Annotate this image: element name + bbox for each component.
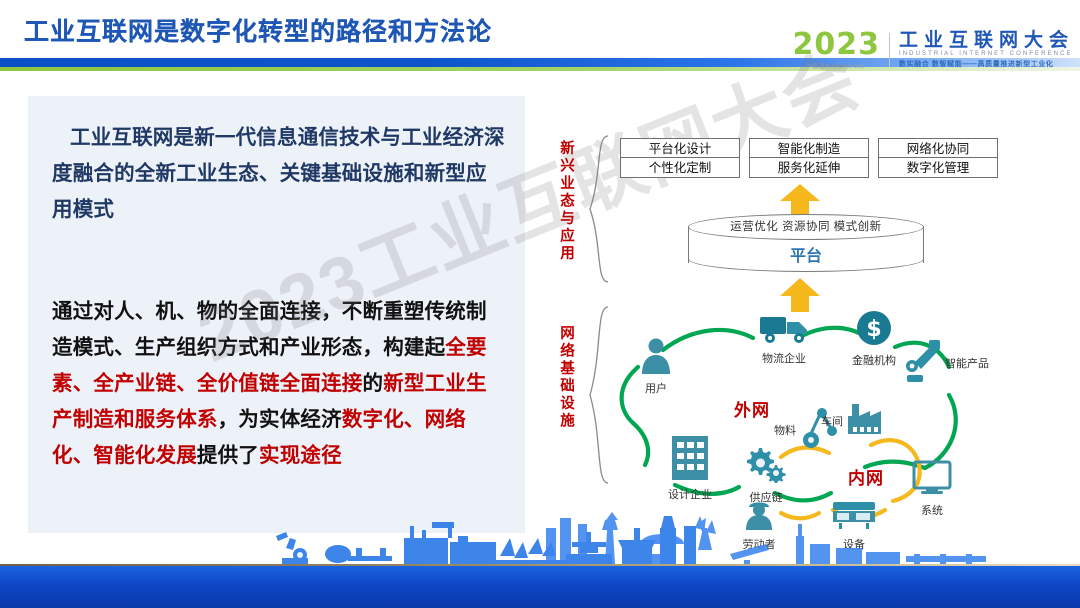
app-box-digital-mgmt[interactable]: 数字化管理 — [878, 158, 998, 178]
logo-date-location: 中国·贵州 6月14日-16日 — [807, 63, 865, 70]
node-smart-product[interactable]: 智能产品 — [903, 340, 1013, 384]
monitor-icon — [912, 460, 952, 496]
truck-icon — [758, 312, 810, 344]
node-user-label: 用户 — [626, 380, 686, 396]
app-box-service-extension[interactable]: 服务化延伸 — [749, 158, 869, 178]
logo-year: 2023 — [792, 30, 880, 60]
paragraph-definition: 工业互联网是新一代信息通信技术与工业经济深度融合的全新工业生态、关键基础设施和新… — [52, 120, 507, 228]
node-workshop-label: 车间 — [821, 413, 843, 429]
gears-icon — [744, 445, 788, 483]
svg-text:$: $ — [866, 317, 881, 342]
architecture-diagram: 新兴业态与应用 网络基础设施 平台化设计 个性化定制 智能化制造 服务化延伸 网… — [548, 120, 1072, 530]
platform-cylinder: 运营优化 资源协同 模式创新 平台 — [688, 214, 924, 272]
arrow-up-to-applications — [780, 184, 820, 216]
node-design[interactable]: 设计企业 — [650, 432, 730, 502]
logo-name-en: INDUSTRIAL INTERNET CONFERENCE — [899, 51, 1074, 57]
node-logistics[interactable]: 物流企业 — [744, 312, 824, 366]
node-logistics-label: 物流企业 — [744, 350, 824, 366]
app-box-smart-manufacturing[interactable]: 智能化制造 — [749, 138, 869, 158]
platform-capabilities: 运营优化 资源协同 模式创新 — [688, 218, 924, 234]
node-smart-product-label: 智能产品 — [945, 355, 989, 371]
app-box-group-1: 平台化设计 个性化定制 — [620, 138, 740, 178]
building-icon — [668, 432, 712, 480]
network-label-outer: 外网 — [734, 396, 770, 421]
page-title: 工业互联网是数字化转型的路径和方法论 — [24, 12, 492, 48]
seg-2: 的 — [363, 372, 384, 395]
robot-arm-icon — [903, 340, 943, 384]
app-box-group-2: 智能化制造 服务化延伸 — [749, 138, 869, 178]
paragraph-impact: 通过对人、机、物的全面连接，不断重塑传统制造模式、生产组织方式和产业形态，构建起… — [52, 294, 507, 474]
seg-4: ，为实体经济 — [218, 408, 342, 431]
node-user[interactable]: 用户 — [626, 338, 686, 396]
node-workshop[interactable]: 车间 — [776, 402, 888, 438]
seg-7: 实现途径 — [259, 444, 342, 467]
node-finance[interactable]: $ 金融机构 — [834, 310, 914, 368]
brace-applications — [588, 134, 610, 284]
layer-label-applications: 新兴业态与应用 — [556, 140, 577, 263]
app-box-group-3: 网络化协同 数字化管理 — [878, 138, 998, 178]
logo-tagline: 数实融合 数智赋能——高质量推进新型工业化 — [899, 59, 1074, 69]
factory-icon — [846, 402, 888, 438]
node-supply-chain[interactable]: 供应链 — [730, 445, 802, 505]
conference-logo: 2023 中国·贵州 6月14日-16日 工业互联网大会 INDUSTRIAL … — [792, 26, 1074, 74]
logo-divider — [889, 33, 890, 67]
node-design-label: 设计企业 — [650, 486, 730, 502]
app-box-platform-design[interactable]: 平台化设计 — [620, 138, 740, 158]
city-skyline-decoration — [0, 510, 1080, 566]
dollar-circle-icon: $ — [856, 310, 892, 346]
slide-root: 工业互联网是数字化转型的路径和方法论 2023 中国·贵州 6月14日-16日 … — [0, 0, 1080, 608]
content-panel: 工业互联网是新一代信息通信技术与工业经济深度融合的全新工业生态、关键基础设施和新… — [28, 96, 525, 533]
seg-0: 通过对人、机、物的全面连接，不断重塑传统制造模式、生产组织方式和产业形态，构建起 — [52, 300, 487, 359]
footer-band — [0, 566, 1080, 608]
node-finance-label: 金融机构 — [834, 352, 914, 368]
layer-label-infrastructure: 网络基础设施 — [556, 325, 577, 430]
network-label-inner: 内网 — [848, 464, 884, 489]
app-box-network-collab[interactable]: 网络化协同 — [878, 138, 998, 158]
platform-name: 平台 — [688, 242, 924, 266]
seg-6: 提供了 — [197, 444, 259, 467]
app-box-custom-made[interactable]: 个性化定制 — [620, 158, 740, 178]
logo-name-cn: 工业互联网大会 — [899, 31, 1074, 51]
person-icon — [639, 338, 673, 374]
